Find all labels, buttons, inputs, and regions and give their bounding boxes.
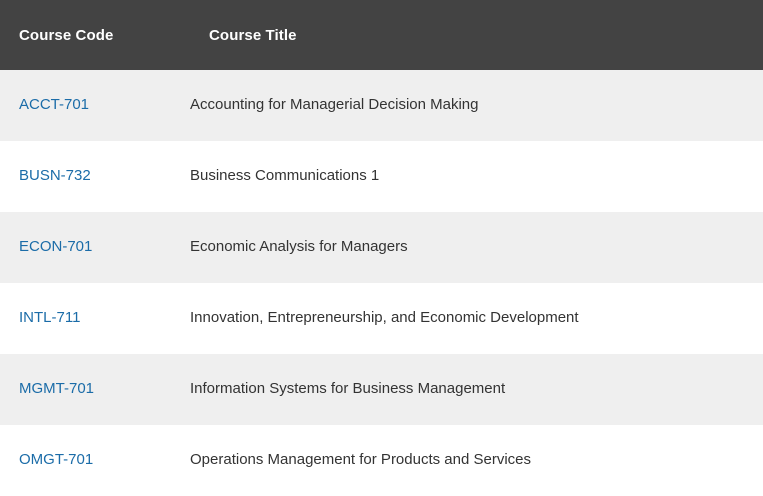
- cell-course-title: Economic Analysis for Managers: [190, 212, 763, 283]
- course-code-link[interactable]: ECON-701: [19, 238, 92, 255]
- course-title-text: Business Communications 1: [190, 167, 379, 184]
- cell-course-title-inner: Innovation, Entrepreneurship, and Econom…: [190, 308, 763, 328]
- cell-course-code-inner: INTL-711: [0, 308, 190, 328]
- cell-course-code: MGMT-701: [0, 354, 190, 425]
- cell-course-code-inner: ECON-701: [0, 237, 190, 257]
- course-code-link[interactable]: MGMT-701: [19, 380, 94, 397]
- table-row: MGMT-701 Information Systems for Busines…: [0, 354, 763, 425]
- cell-course-code-inner: BUSN-732: [0, 166, 190, 186]
- cell-course-title-inner: Accounting for Managerial Decision Makin…: [190, 95, 763, 115]
- cell-course-title: Operations Management for Products and S…: [190, 425, 763, 496]
- cell-course-code-inner: MGMT-701: [0, 379, 190, 399]
- course-title-text: Accounting for Managerial Decision Makin…: [190, 96, 478, 113]
- course-code-link[interactable]: ACCT-701: [19, 96, 89, 113]
- column-header-course-title[interactable]: Course Title: [190, 0, 763, 70]
- cell-course-title-inner: Business Communications 1: [190, 166, 763, 186]
- column-header-course-title-label: Course Title: [190, 27, 763, 44]
- course-table: Course Code Course Title ACCT-701 Accoun…: [0, 0, 763, 496]
- column-header-course-code[interactable]: Course Code: [0, 0, 190, 70]
- cell-course-title-inner: Operations Management for Products and S…: [190, 450, 763, 470]
- course-code-link[interactable]: OMGT-701: [19, 451, 93, 468]
- cell-course-title: Business Communications 1: [190, 141, 763, 212]
- course-title-text: Operations Management for Products and S…: [190, 451, 531, 468]
- table-row: ECON-701 Economic Analysis for Managers: [0, 212, 763, 283]
- column-header-course-code-label: Course Code: [0, 27, 190, 44]
- cell-course-title: Innovation, Entrepreneurship, and Econom…: [190, 283, 763, 354]
- cell-course-code: OMGT-701: [0, 425, 190, 496]
- table-row: ACCT-701 Accounting for Managerial Decis…: [0, 70, 763, 141]
- table-row: BUSN-732 Business Communications 1: [0, 141, 763, 212]
- cell-course-title-inner: Economic Analysis for Managers: [190, 237, 763, 257]
- course-code-link[interactable]: BUSN-732: [19, 167, 91, 184]
- course-code-link[interactable]: INTL-711: [19, 309, 80, 326]
- cell-course-code: ECON-701: [0, 212, 190, 283]
- cell-course-code: BUSN-732: [0, 141, 190, 212]
- cell-course-title: Accounting for Managerial Decision Makin…: [190, 70, 763, 141]
- cell-course-code: ACCT-701: [0, 70, 190, 141]
- cell-course-title-inner: Information Systems for Business Managem…: [190, 379, 763, 399]
- table-row: INTL-711 Innovation, Entrepreneurship, a…: [0, 283, 763, 354]
- cell-course-code-inner: ACCT-701: [0, 95, 190, 115]
- course-title-text: Innovation, Entrepreneurship, and Econom…: [190, 309, 579, 326]
- cell-course-code-inner: OMGT-701: [0, 450, 190, 470]
- table-body: ACCT-701 Accounting for Managerial Decis…: [0, 70, 763, 496]
- table-header: Course Code Course Title: [0, 0, 763, 70]
- course-title-text: Information Systems for Business Managem…: [190, 380, 505, 397]
- cell-course-title: Information Systems for Business Managem…: [190, 354, 763, 425]
- table-row: OMGT-701 Operations Management for Produ…: [0, 425, 763, 496]
- cell-course-code: INTL-711: [0, 283, 190, 354]
- header-row: Course Code Course Title: [0, 0, 763, 70]
- course-title-text: Economic Analysis for Managers: [190, 238, 408, 255]
